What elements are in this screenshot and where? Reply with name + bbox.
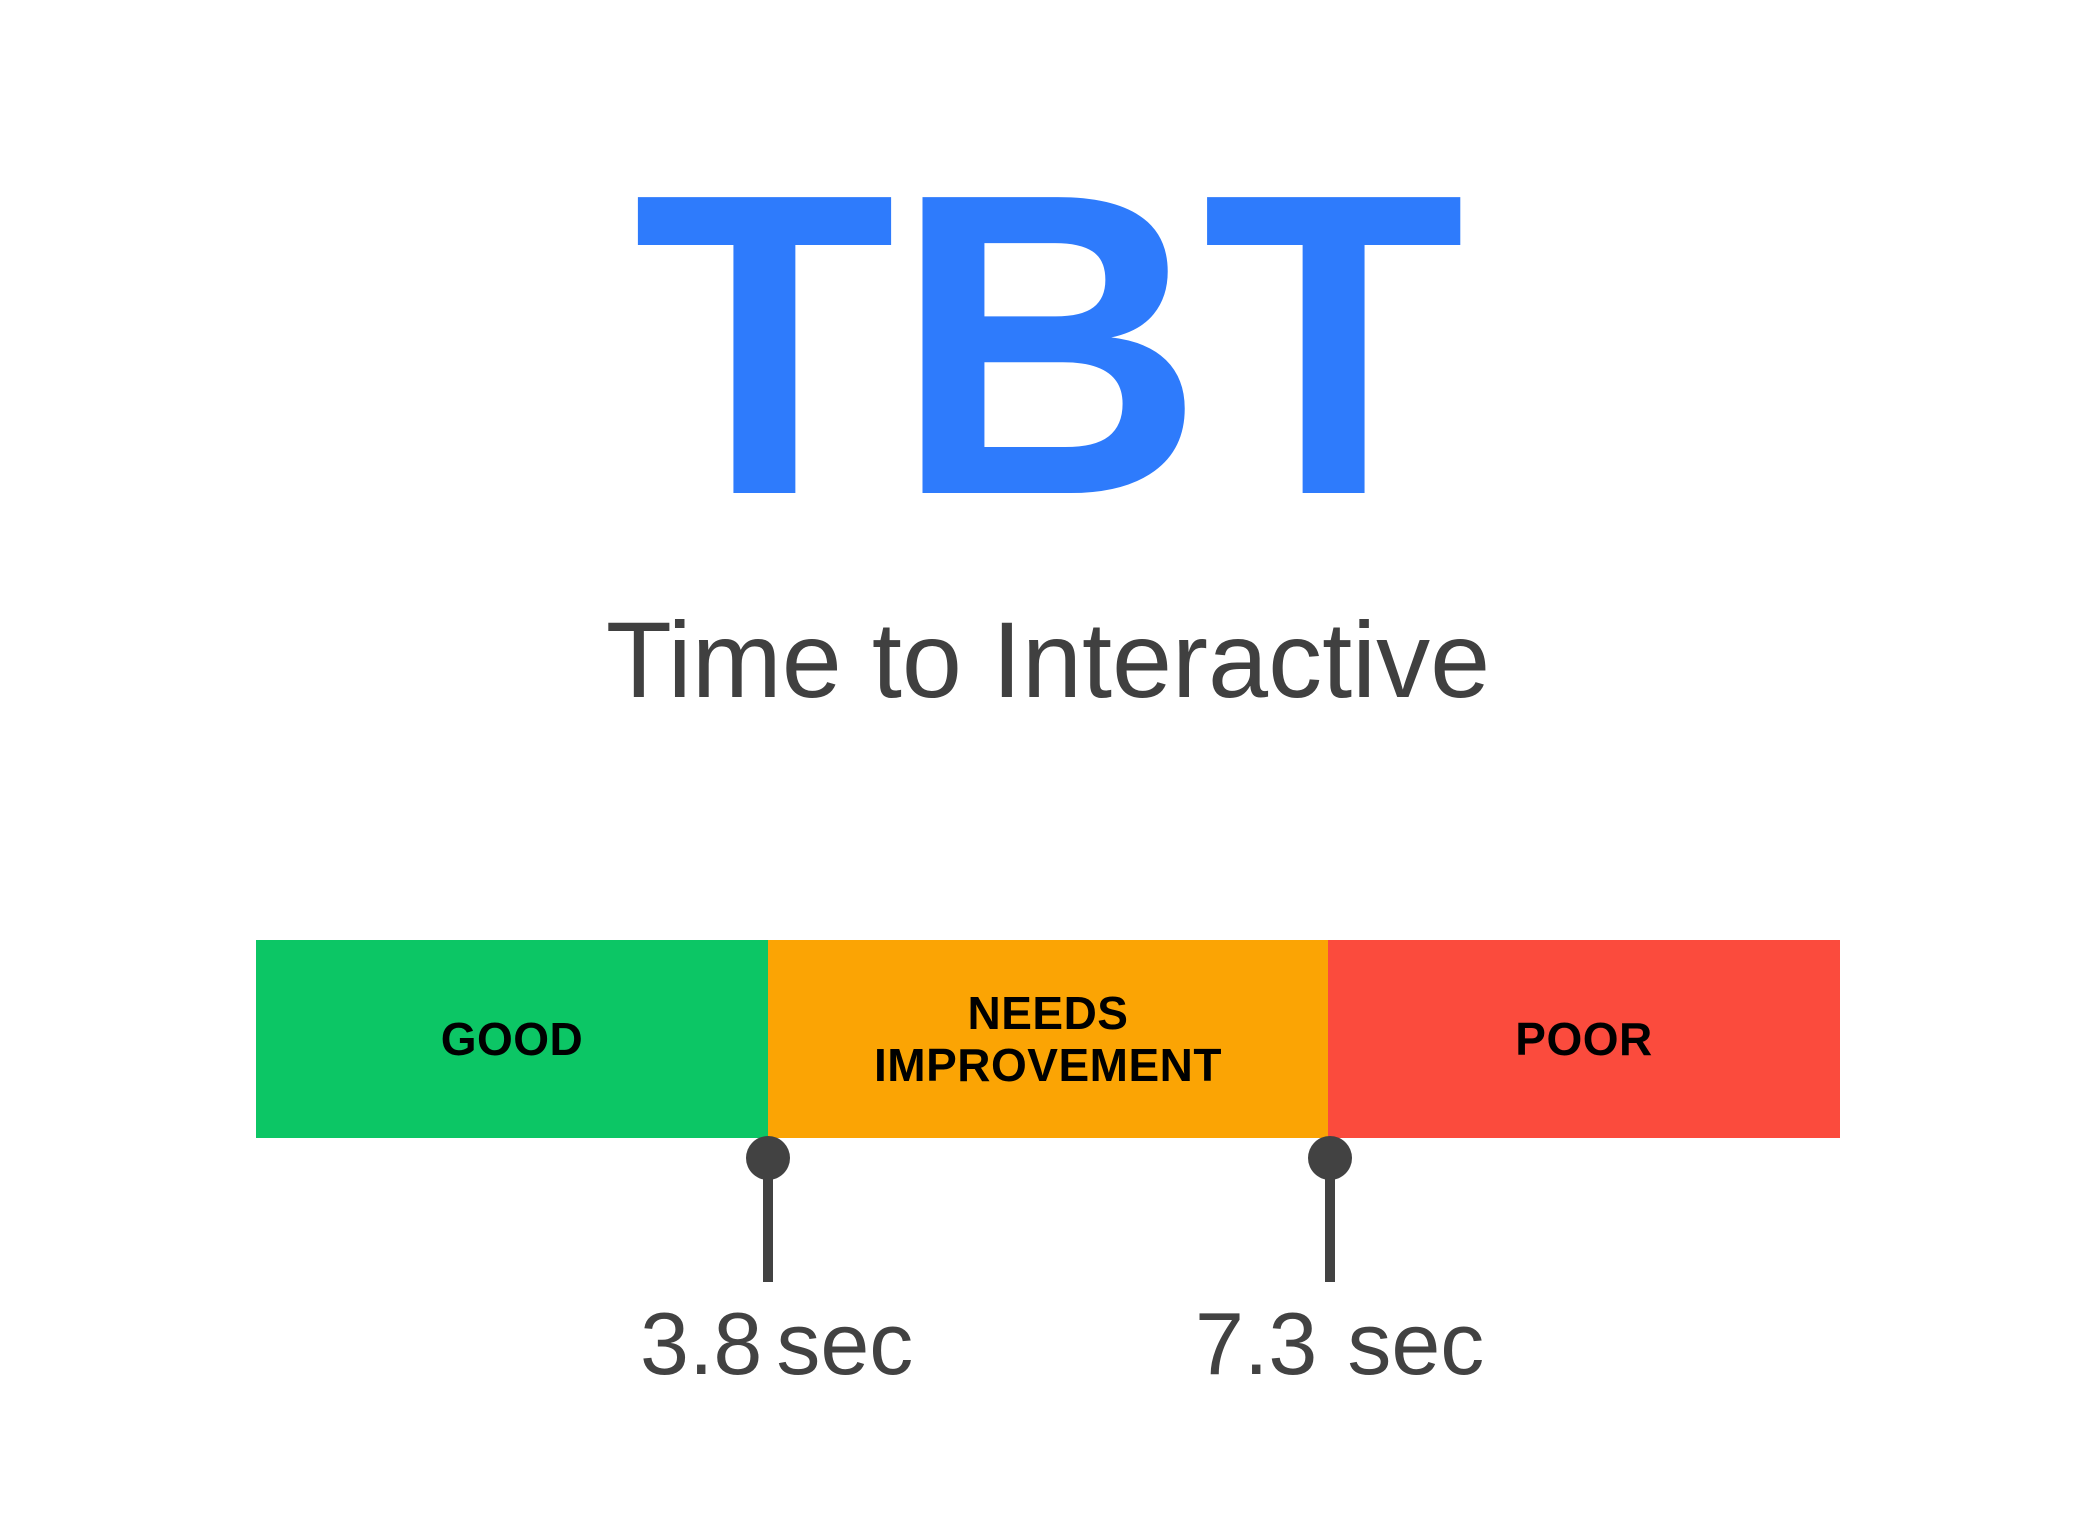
scale-segment-needs-improvement-label: NEEDS IMPROVEMENT xyxy=(874,987,1222,1091)
scale-segment-poor: POOR xyxy=(1328,940,1840,1138)
threshold-value-good: 3.8 xyxy=(640,1294,762,1393)
page-subtitle: Time to Interactive xyxy=(0,600,2096,720)
threshold-scale-bar: GOOD NEEDS IMPROVEMENT POOR xyxy=(256,940,1840,1138)
threshold-unit-poor: sec xyxy=(1347,1294,1484,1393)
scale-segment-good: GOOD xyxy=(256,940,768,1138)
slide-canvas: TBT Time to Interactive GOOD NEEDS IMPRO… xyxy=(0,0,2096,1520)
scale-segment-good-label: GOOD xyxy=(441,1013,584,1065)
threshold-unit-good: sec xyxy=(776,1294,913,1393)
scale-segment-needs-improvement: NEEDS IMPROVEMENT xyxy=(768,940,1328,1138)
threshold-stem-icon xyxy=(763,1158,773,1282)
threshold-label-good: 3.8sec xyxy=(640,1294,913,1394)
scale-segment-poor-label: POOR xyxy=(1515,1013,1652,1065)
threshold-label-poor: 7.3sec xyxy=(1195,1294,1484,1394)
threshold-value-poor: 7.3 xyxy=(1195,1294,1317,1393)
threshold-stem-icon xyxy=(1325,1158,1335,1282)
page-title: TBT xyxy=(0,130,2096,560)
